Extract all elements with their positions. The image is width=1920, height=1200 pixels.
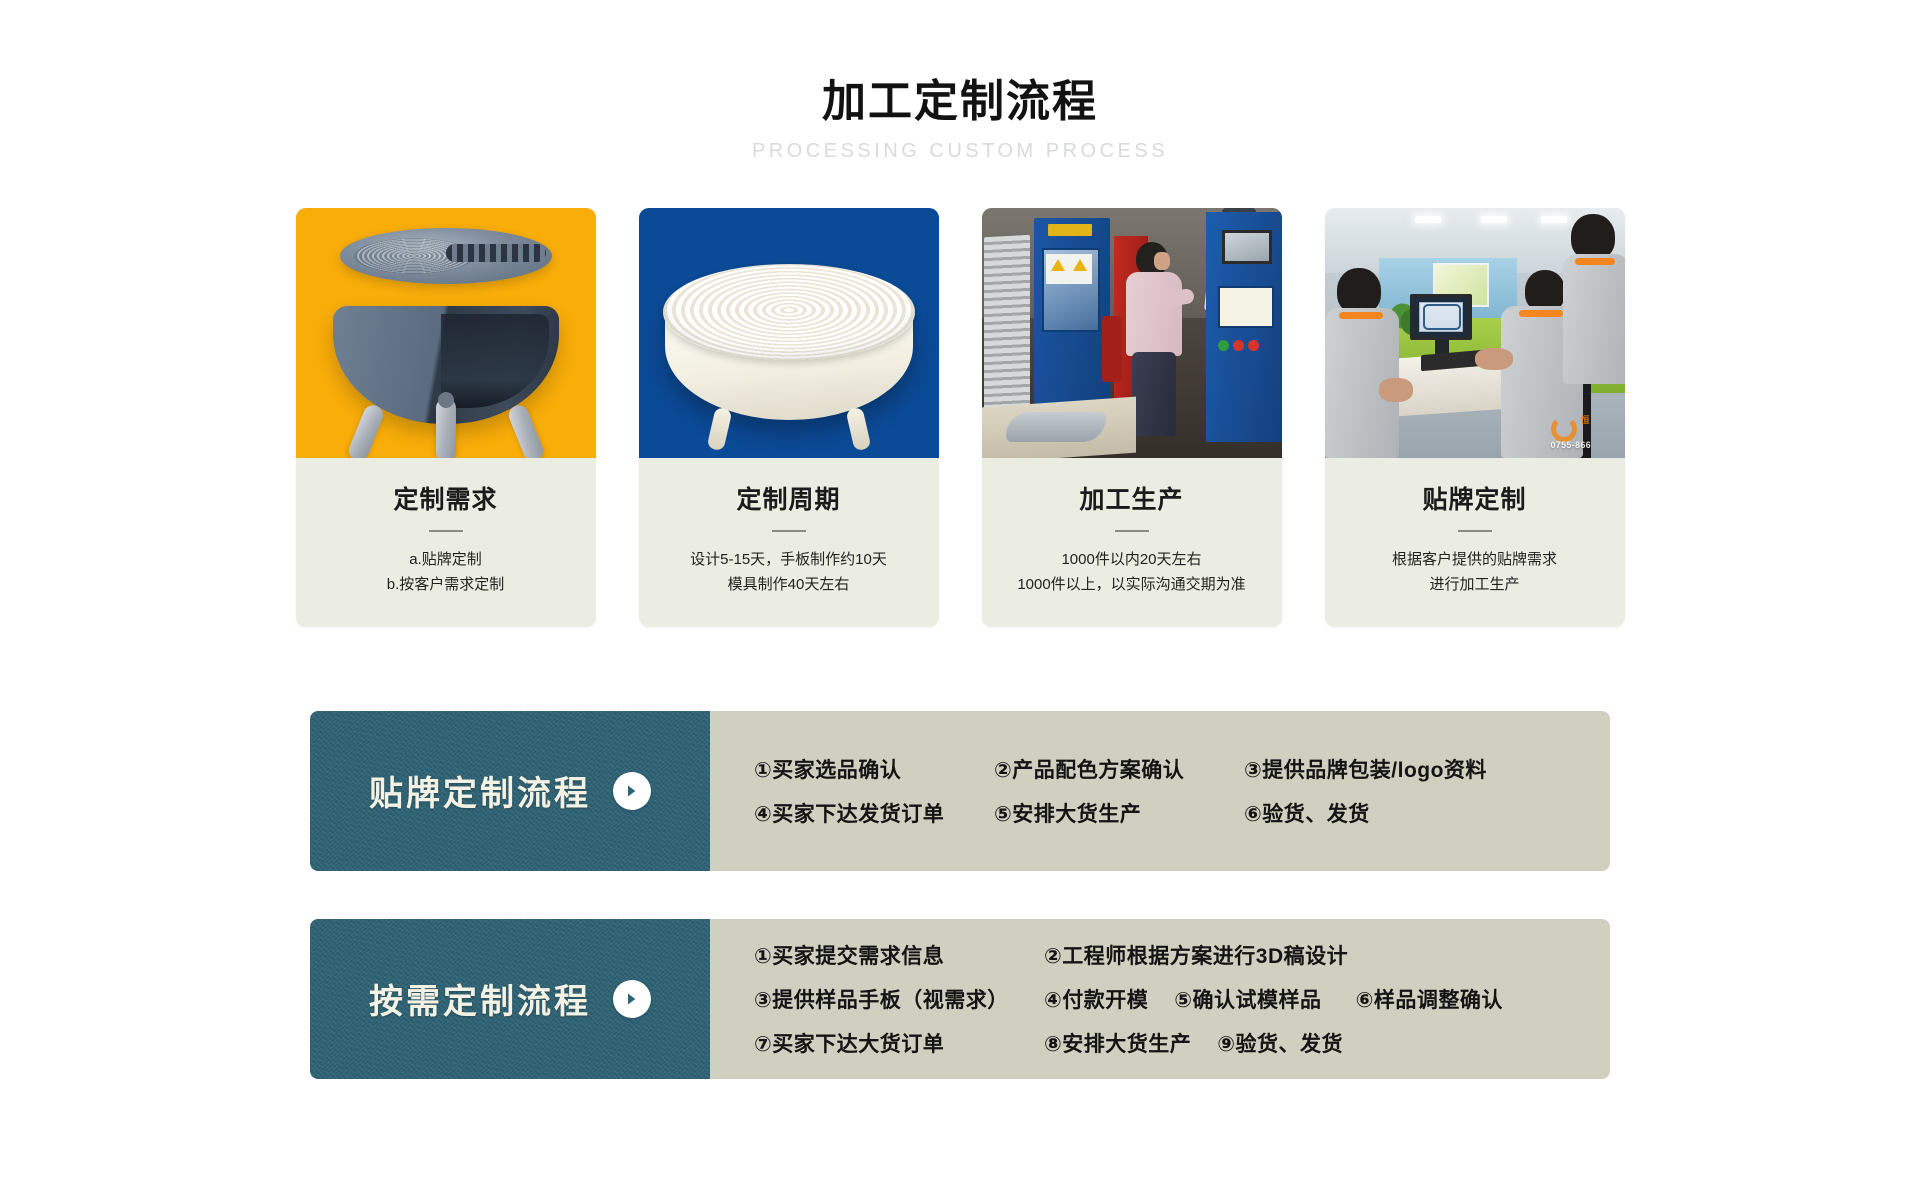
grill-leg-center bbox=[436, 398, 456, 458]
card-description: 设计5-15天，手板制作约10天 模具制作40天左右 bbox=[653, 548, 925, 597]
process-step: ⑤确认试模样品 bbox=[1174, 984, 1321, 1014]
card-desc-line: a.贴牌定制 bbox=[310, 548, 582, 572]
office-photo: 恒 0755-866 bbox=[1325, 208, 1625, 458]
card-title: 加工生产 bbox=[996, 480, 1268, 516]
watermark-phone: 0755-866 bbox=[1551, 440, 1591, 450]
page-title: 加工定制流程 bbox=[0, 78, 1920, 126]
process-step: ③提供品牌包装/logo资料 bbox=[1244, 754, 1487, 784]
card-divider bbox=[772, 530, 806, 532]
card-media-office: 恒 0755-866 bbox=[1325, 208, 1625, 458]
card-desc-line: 设计5-15天，手板制作约10天 bbox=[653, 548, 925, 572]
process-cards: 定制需求 a.贴牌定制 b.按客户需求定制 定制周期 bbox=[0, 208, 1920, 627]
process-card[interactable]: 定制周期 设计5-15天，手板制作约10天 模具制作40天左右 bbox=[639, 208, 939, 627]
card-divider bbox=[1115, 530, 1149, 532]
process-step: ②工程师根据方案进行3D稿设计 bbox=[1044, 940, 1348, 970]
prototype-spiral-top bbox=[663, 264, 915, 360]
page-header: 加工定制流程 PROCESSING CUSTOM PROCESS bbox=[0, 0, 1920, 163]
grill-lid-illustration bbox=[340, 228, 552, 284]
process-card[interactable]: 恒 0755-866 贴牌定制 根据客户提供的贴牌需求 进行加工生产 bbox=[1325, 208, 1625, 627]
card-media-prototype bbox=[639, 208, 939, 458]
prototype-illustration bbox=[639, 250, 939, 430]
process-card[interactable]: 定制需求 a.贴牌定制 b.按客户需求定制 bbox=[296, 208, 596, 627]
chevron-right-icon bbox=[613, 772, 651, 810]
process-step: ⑤安排大货生产 bbox=[994, 798, 1244, 828]
card-body: 加工生产 1000件以内20天左右 1000件以上，以实际沟通交期为准 bbox=[982, 458, 1282, 627]
grill-leg-right bbox=[505, 403, 545, 459]
machine-display bbox=[1222, 230, 1272, 264]
card-desc-line: 1000件以上，以实际沟通交期为准 bbox=[996, 573, 1268, 597]
watermark-ring-icon bbox=[1551, 416, 1577, 442]
watermark-logo: 恒 0755-866 bbox=[1551, 414, 1617, 448]
engineer-collar bbox=[1575, 258, 1615, 265]
process-step: ⑥验货、发货 bbox=[1244, 798, 1370, 828]
machine-yellow-label bbox=[1048, 224, 1092, 236]
engineer-arm bbox=[1379, 378, 1413, 402]
ceiling-light bbox=[1415, 216, 1441, 223]
cad-drawing-on-screen bbox=[1423, 304, 1461, 330]
process-step: ④付款开模 bbox=[1044, 984, 1148, 1014]
process-card[interactable]: 加工生产 1000件以内20天左右 1000件以上，以实际沟通交期为准 bbox=[982, 208, 1282, 627]
engineer-body bbox=[1563, 254, 1625, 384]
card-description: 1000件以内20天左右 1000件以上，以实际沟通交期为准 bbox=[996, 548, 1268, 597]
card-desc-line: 1000件以内20天左右 bbox=[996, 548, 1268, 572]
watermark-brand: 恒 bbox=[1581, 416, 1591, 426]
card-body: 定制需求 a.贴牌定制 b.按客户需求定制 bbox=[296, 458, 596, 627]
banner-label-text: 按需定制流程 bbox=[369, 974, 591, 1023]
process-step: ③提供样品手板（视需求） bbox=[754, 984, 1044, 1014]
process-step: ①买家选品确认 bbox=[754, 754, 994, 784]
process-step: ①买家提交需求信息 bbox=[754, 940, 1044, 970]
step-row: ⑦买家下达大货订单 ⑧安排大货生产 ⑨验货、发货 bbox=[754, 1021, 1610, 1065]
oem-process-steps: ①买家选品确认 ②产品配色方案确认 ③提供品牌包装/logo资料 ④买家下达发货… bbox=[710, 711, 1610, 871]
process-step: ④买家下达发货订单 bbox=[754, 798, 994, 828]
page-root: 加工定制流程 PROCESSING CUSTOM PROCESS 定制需求 a.… bbox=[0, 0, 1920, 1200]
oem-process-label[interactable]: 贴牌定制流程 bbox=[310, 711, 710, 871]
engineer-collar bbox=[1339, 312, 1383, 319]
stacked-trays bbox=[984, 235, 1030, 415]
card-divider bbox=[429, 530, 463, 532]
prototype-leg-right bbox=[845, 407, 871, 452]
card-desc-line: 模具制作40天左右 bbox=[653, 573, 925, 597]
card-description: 根据客户提供的贴牌需求 进行加工生产 bbox=[1339, 548, 1611, 597]
ondemand-process-steps: ①买家提交需求信息 ②工程师根据方案进行3D稿设计 ③提供样品手板（视需求） ④… bbox=[710, 919, 1610, 1079]
molded-part bbox=[1006, 412, 1106, 442]
oem-process-banner: 贴牌定制流程 ①买家选品确认 ②产品配色方案确认 ③提供品牌包装/logo资料 … bbox=[310, 711, 1610, 871]
process-step: ⑨验货、发货 bbox=[1217, 1028, 1343, 1058]
card-body: 定制周期 设计5-15天，手板制作约10天 模具制作40天左右 bbox=[639, 458, 939, 627]
card-media-exploded-grill bbox=[296, 208, 596, 458]
card-title: 贴牌定制 bbox=[1339, 480, 1611, 516]
card-divider bbox=[1458, 530, 1492, 532]
card-desc-line: b.按客户需求定制 bbox=[310, 573, 582, 597]
prototype-leg-left bbox=[706, 407, 732, 452]
worker-shirt bbox=[1126, 272, 1182, 356]
process-step: ⑦买家下达大货订单 bbox=[754, 1028, 1044, 1058]
machine-buttons bbox=[1218, 338, 1272, 352]
ceiling-light bbox=[1481, 216, 1507, 223]
step-row: ④买家下达发货订单 ⑤安排大货生产 ⑥验货、发货 bbox=[754, 791, 1610, 835]
warning-sign bbox=[1046, 254, 1092, 284]
worker-face bbox=[1154, 252, 1170, 270]
engineer-collar bbox=[1519, 310, 1563, 317]
step-row: ③提供样品手板（视需求） ④付款开模 ⑤确认试模样品 ⑥样品调整确认 bbox=[754, 977, 1610, 1021]
factory-photo bbox=[982, 208, 1282, 458]
process-step: ⑥样品调整确认 bbox=[1356, 984, 1503, 1014]
worker-pants bbox=[1132, 352, 1176, 436]
page-subtitle: PROCESSING CUSTOM PROCESS bbox=[0, 140, 1920, 163]
card-title: 定制周期 bbox=[653, 480, 925, 516]
red-press-base bbox=[1102, 316, 1122, 382]
process-step: ②产品配色方案确认 bbox=[994, 754, 1244, 784]
step-row: ①买家选品确认 ②产品配色方案确认 ③提供品牌包装/logo资料 bbox=[754, 747, 1610, 791]
banner-label-text: 贴牌定制流程 bbox=[369, 766, 591, 815]
ondemand-process-label[interactable]: 按需定制流程 bbox=[310, 919, 710, 1079]
grill-leg-left bbox=[345, 403, 385, 459]
card-body: 贴牌定制 根据客户提供的贴牌需求 进行加工生产 bbox=[1325, 458, 1625, 627]
process-step: ⑧安排大货生产 bbox=[1044, 1028, 1191, 1058]
card-title: 定制需求 bbox=[310, 480, 582, 516]
card-desc-line: 进行加工生产 bbox=[1339, 573, 1611, 597]
ceiling-light bbox=[1541, 216, 1567, 223]
card-media-factory bbox=[982, 208, 1282, 458]
machine-panel bbox=[1218, 286, 1274, 328]
engineer-arm bbox=[1475, 348, 1513, 370]
ondemand-process-banner: 按需定制流程 ①买家提交需求信息 ②工程师根据方案进行3D稿设计 ③提供样品手板… bbox=[310, 919, 1610, 1079]
chevron-right-icon bbox=[613, 980, 651, 1018]
card-description: a.贴牌定制 b.按客户需求定制 bbox=[310, 548, 582, 597]
step-row: ①买家提交需求信息 ②工程师根据方案进行3D稿设计 bbox=[754, 933, 1610, 977]
card-desc-line: 根据客户提供的贴牌需求 bbox=[1339, 548, 1611, 572]
